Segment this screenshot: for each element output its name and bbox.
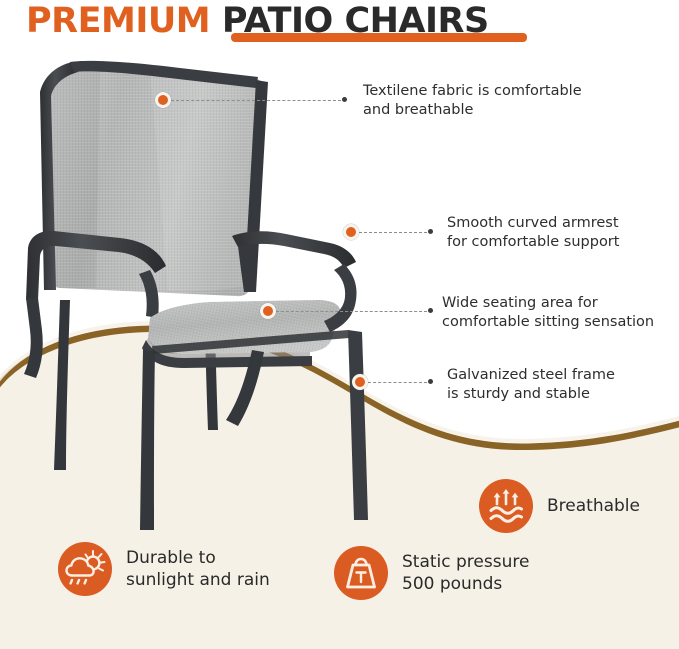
callout-armrest: Smooth curved armrest for comfortable su… (447, 214, 619, 252)
badge-weather-line2: sunlight and rain (126, 569, 270, 591)
badge-breathable: Breathable (479, 479, 640, 533)
marker-dot-icon-seat (260, 303, 276, 319)
badge-circle-breathable (479, 479, 533, 533)
weight-icon (334, 546, 388, 600)
badge-breathable-line1: Breathable (547, 495, 640, 517)
badge-circle-weather (58, 542, 112, 596)
leader-endpoint-seat (428, 308, 433, 313)
callout-frame-line1: Galvanized steel frame (447, 366, 615, 385)
badge-weather-resistance: Durable to sunlight and rain (58, 542, 270, 596)
badge-label-breathable: Breathable (547, 495, 640, 517)
leader-endpoint-armrest (428, 229, 433, 234)
callout-fabric-line2: and breathable (363, 101, 582, 120)
leader-line-seat (276, 311, 427, 312)
callout-armrest-line2: for comfortable support (447, 233, 619, 252)
badge-static-pressure-line2: 500 pounds (402, 573, 529, 595)
badge-static-pressure-line1: Static pressure (402, 551, 529, 573)
badge-circle-static-pressure (334, 546, 388, 600)
badge-static-pressure: Static pressure 500 pounds (334, 546, 529, 600)
leader-endpoint-frame (428, 379, 433, 384)
callout-frame-line2: is sturdy and stable (447, 385, 615, 404)
callout-armrest-line1: Smooth curved armrest (447, 214, 619, 233)
callout-fabric-line1: Textilene fabric is comfortable (363, 82, 582, 101)
leader-endpoint-fabric (342, 97, 347, 102)
callout-seat-line1: Wide seating area for (442, 294, 654, 313)
marker-dot-icon-armrest (343, 224, 359, 240)
breathable-airflow-icon (479, 479, 533, 533)
marker-dot-icon-frame (352, 374, 368, 390)
callout-fabric: Textilene fabric is comfortable and brea… (363, 82, 582, 120)
badge-label-static-pressure: Static pressure 500 pounds (402, 551, 529, 595)
leader-line-fabric (171, 100, 341, 101)
marker-dot-icon-fabric (155, 92, 171, 108)
callout-seat: Wide seating area for comfortable sittin… (442, 294, 654, 332)
callout-frame: Galvanized steel frame is sturdy and sta… (447, 366, 615, 404)
badge-weather-line1: Durable to (126, 547, 270, 569)
product-infographic: PREMIUM PATIO CHAIRS (0, 0, 679, 649)
sun-cloud-rain-icon (58, 542, 112, 596)
leader-line-armrest (359, 232, 427, 233)
badge-label-weather: Durable to sunlight and rain (126, 547, 270, 591)
leader-line-frame (368, 382, 427, 383)
callout-seat-line2: comfortable sitting sensation (442, 313, 654, 332)
